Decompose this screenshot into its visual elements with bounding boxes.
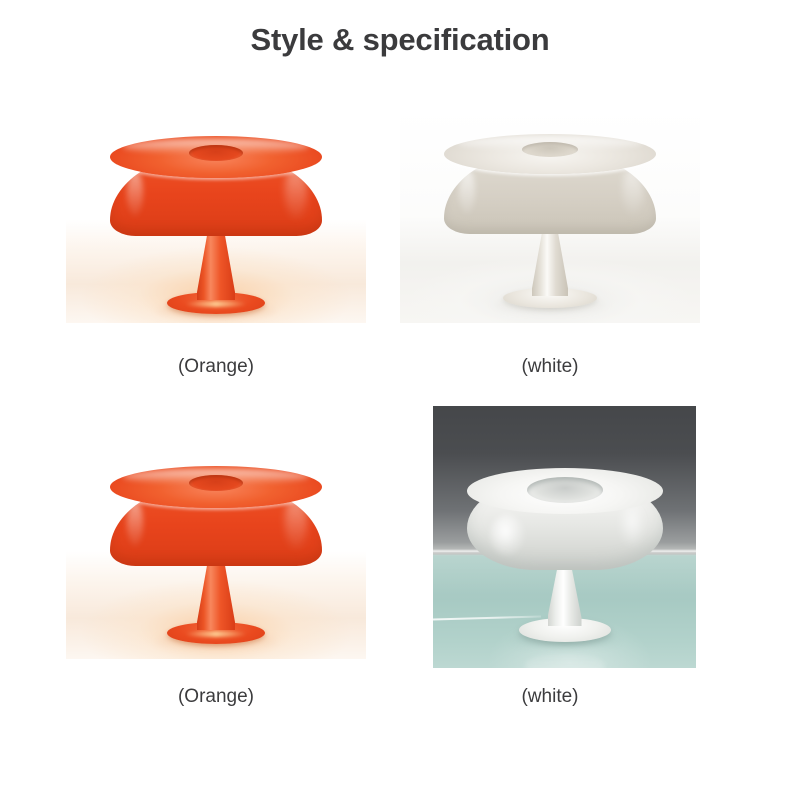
lamp-shade-highlight-left xyxy=(459,168,475,214)
product-photo-orange-1[interactable] xyxy=(66,108,366,323)
product-style-gallery: (Orange) (white) xyxy=(0,108,800,736)
mushroom-table-lamp-white xyxy=(444,134,656,314)
product-photo-white-2[interactable] xyxy=(433,406,696,668)
mushroom-table-lamp-orange xyxy=(110,136,322,318)
lamp-shade-dimple xyxy=(527,477,603,503)
photo-caption-white-1: (white) xyxy=(400,356,700,378)
lamp-shade-highlight-left xyxy=(127,500,143,546)
lamp-shade-highlight-left xyxy=(490,515,524,555)
gallery-row: (Orange) (white) xyxy=(0,108,800,406)
photo-caption-orange-2: (Orange) xyxy=(66,686,366,708)
lamp-shade-highlight-right xyxy=(285,495,307,549)
lamp-stem xyxy=(197,564,235,630)
lamp-shade-highlight-right xyxy=(285,165,307,219)
lamp-stem xyxy=(532,232,568,296)
product-photo-white-1[interactable] xyxy=(400,108,700,323)
gallery-cell-white-2[interactable] xyxy=(400,406,696,668)
lamp-stem xyxy=(197,234,235,300)
lamp-shade-highlight-left xyxy=(127,170,143,216)
mushroom-table-lamp-orange xyxy=(110,466,322,648)
gallery-cell-white-1[interactable] xyxy=(400,108,700,323)
photo-caption-orange-1: (Orange) xyxy=(66,356,366,378)
product-photo-orange-2[interactable] xyxy=(66,434,366,659)
gallery-cell-orange-2[interactable] xyxy=(66,434,366,659)
gallery-row: (Orange) (white) xyxy=(0,406,800,736)
mushroom-table-lamp-white xyxy=(467,468,663,658)
lamp-shade-highlight-right xyxy=(623,165,643,215)
lamp-stem xyxy=(548,566,582,626)
gallery-cell-orange-1[interactable] xyxy=(66,108,366,323)
lamp-shade-dimple xyxy=(522,142,578,157)
lamp-shade-dimple xyxy=(189,475,243,491)
lamp-shade-dimple xyxy=(189,145,243,161)
lamp-reflection xyxy=(526,654,604,669)
page-title: Style & specification xyxy=(0,22,800,58)
photo-caption-white-2: (white) xyxy=(400,686,700,708)
